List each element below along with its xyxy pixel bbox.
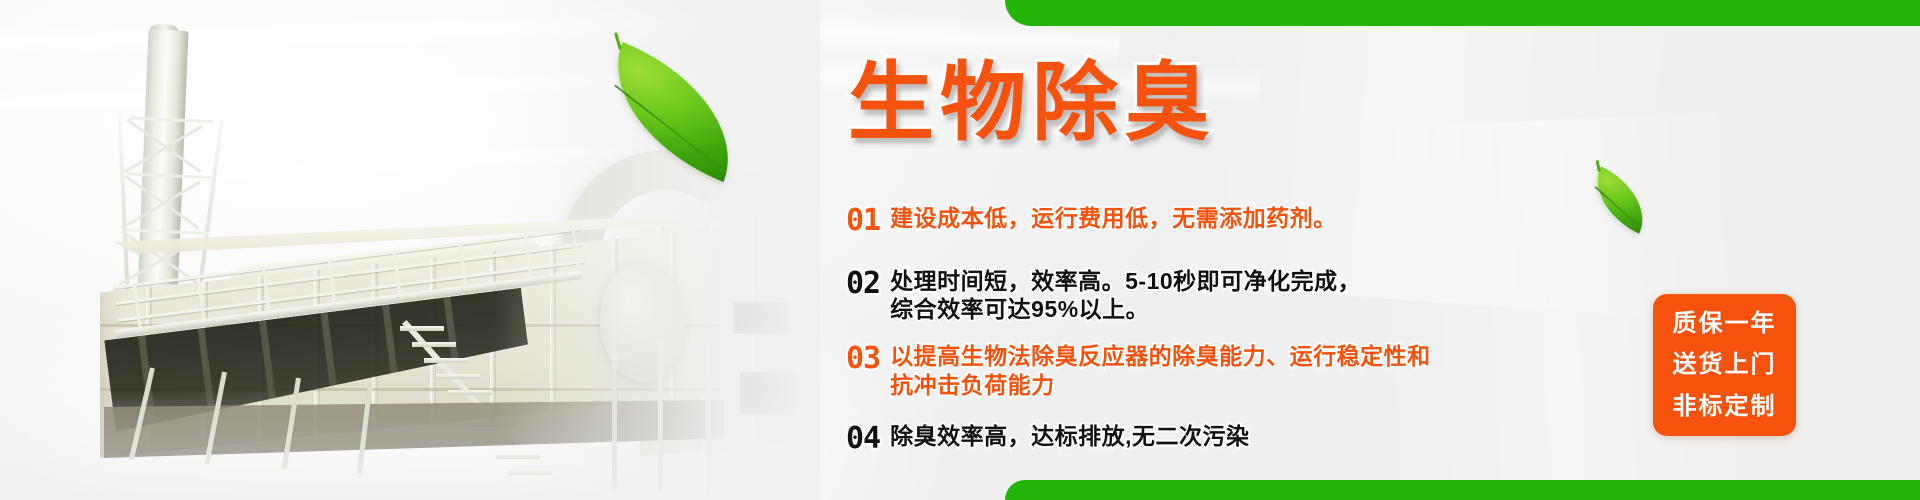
feature-item: 04 除臭效率高，达标排放,无二次污染 xyxy=(846,422,1506,457)
support-leg xyxy=(658,340,663,490)
feature-number: 02 xyxy=(846,267,880,302)
leaf-icon xyxy=(1582,166,1659,234)
service-badge: 质保一年 送货上门 非标定制 xyxy=(1653,294,1796,436)
green-bar-bottom xyxy=(1005,480,1920,500)
support-leg xyxy=(706,344,711,494)
feature-number: 03 xyxy=(846,342,880,377)
green-bar-top xyxy=(1005,0,1920,26)
feature-number: 04 xyxy=(846,422,880,457)
feature-number: 01 xyxy=(846,204,880,239)
support-leg xyxy=(612,350,617,490)
feature-item: 02 处理时间短，效率高。5-10秒即可净化完成， 综合效率可达95%以上。 xyxy=(846,267,1506,325)
badge-line-delivery: 送货上门 xyxy=(1673,353,1777,377)
feature-text: 除臭效率高，达标排放,无二次污染 xyxy=(890,422,1249,451)
feature-text: 以提高生物法除臭反应器的除臭能力、运行稳定性和 抗冲击负荷能力 xyxy=(890,342,1431,400)
feature-text: 建设成本低，运行费用低，无需添加药剂。 xyxy=(890,204,1337,233)
badge-line-warranty: 质保一年 xyxy=(1673,312,1777,336)
feature-list: 01 建设成本低，运行费用低，无需添加药剂。 02 处理时间短，效率高。5-10… xyxy=(846,204,1506,457)
promo-banner: 生物除臭 01 建设成本低，运行费用低，无需添加药剂。 02 处理时间短，效率高… xyxy=(0,0,1920,500)
feature-item: 01 建设成本低，运行费用低，无需添加药剂。 xyxy=(846,204,1506,239)
badge-line-custom: 非标定制 xyxy=(1673,395,1777,419)
feature-item: 03 以提高生物法除臭反应器的除臭能力、运行稳定性和 抗冲击负荷能力 xyxy=(846,342,1506,400)
page-title: 生物除臭 xyxy=(848,60,1216,146)
access-stairs xyxy=(396,320,546,480)
feature-text: 处理时间短，效率高。5-10秒即可净化完成， 综合效率可达95%以上。 xyxy=(890,267,1361,325)
